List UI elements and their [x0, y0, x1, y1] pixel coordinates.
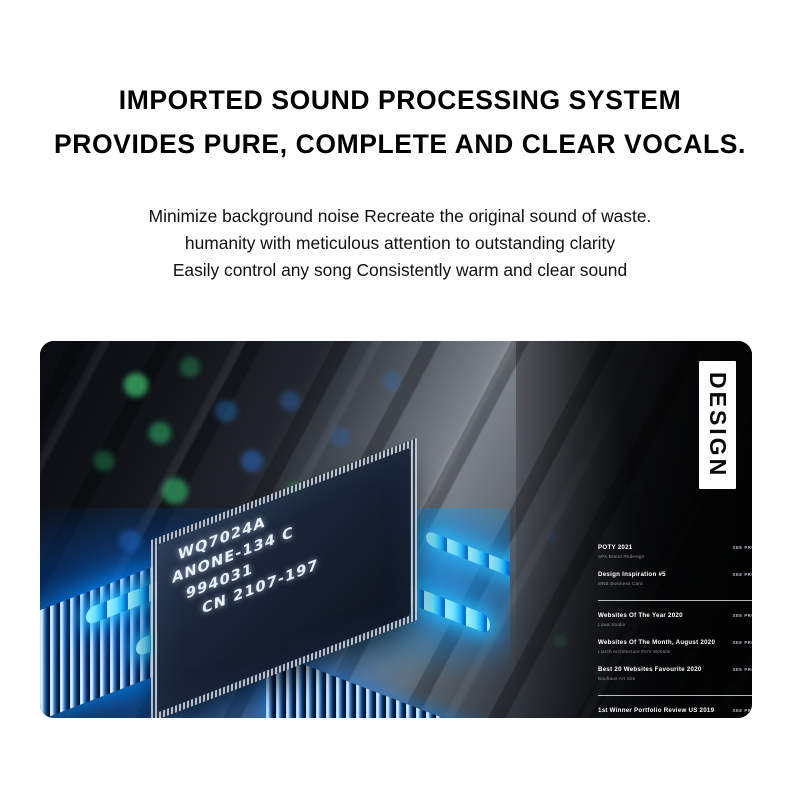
award-subtitle: Bauhaus Art Site: [598, 675, 752, 682]
award-subtitle: Lowa Studio: [598, 621, 752, 628]
awards-list: POTY 2021 SPA Brand Redesign SEE PROJECT…: [598, 544, 752, 718]
hero-image-card: WQ7024A ANONE-134 C 994031 CN 2107-197 D…: [40, 341, 752, 718]
award-subtitle: Designer Logan Cee: [598, 716, 752, 718]
award-subtitle: MNB Business Card: [598, 580, 752, 587]
award-title: 1st Winner Portfolio Review US 2019: [598, 707, 752, 715]
see-project-link[interactable]: SEE PROJECT: [733, 572, 752, 577]
subcopy-line-3: Easily control any song Consistently war…: [0, 257, 800, 284]
award-item[interactable]: Best 20 Websites Favourite 2020 Bauhaus …: [598, 666, 752, 696]
see-project-link[interactable]: SEE PROJECT: [733, 667, 752, 672]
headline-line-1: IMPORTED SOUND PROCESSING SYSTEM: [0, 78, 800, 122]
ic-chip: WQ7024A ANONE-134 C 994031 CN 2107-197: [158, 496, 410, 664]
headline-line-2: PROVIDES PURE, COMPLETE AND CLEAR VOCALS…: [0, 122, 800, 166]
award-item[interactable]: Design Inspiration #5 MNB Business Card …: [598, 571, 752, 601]
see-project-link[interactable]: SEE PROJECT: [733, 613, 752, 618]
see-project-link[interactable]: SEE PROJECT: [733, 708, 752, 713]
subcopy-line-1: Minimize background noise Recreate the o…: [0, 203, 800, 230]
see-project-link[interactable]: SEE PROJECT: [733, 545, 752, 550]
design-tag-label: DESIGN: [706, 372, 729, 478]
award-title: POTY 2021: [598, 544, 752, 552]
design-tag: DESIGN: [699, 361, 736, 489]
award-subtitle: Liarch Architecture Firm Website: [598, 648, 752, 655]
subcopy-line-2: humanity with meticulous attention to ou…: [0, 230, 800, 257]
award-subtitle: SPA Brand Redesign: [598, 553, 752, 560]
award-item[interactable]: Websites Of The Month, August 2020 Liarc…: [598, 639, 752, 666]
award-item[interactable]: 1st Winner Portfolio Review US 2019 Desi…: [598, 707, 752, 718]
award-item[interactable]: Websites Of The Year 2020 Lowa Studio SE…: [598, 612, 752, 639]
award-title: Websites Of The Month, August 2020: [598, 639, 752, 647]
see-project-link[interactable]: SEE PROJECT: [733, 640, 752, 645]
award-title: Best 20 Websites Favourite 2020: [598, 666, 752, 674]
page-headline: IMPORTED SOUND PROCESSING SYSTEM PROVIDE…: [0, 78, 800, 166]
award-item[interactable]: POTY 2021 SPA Brand Redesign SEE PROJECT: [598, 544, 752, 571]
award-title: Websites Of The Year 2020: [598, 612, 752, 620]
page-subcopy: Minimize background noise Recreate the o…: [0, 203, 800, 284]
award-title: Design Inspiration #5: [598, 571, 752, 579]
